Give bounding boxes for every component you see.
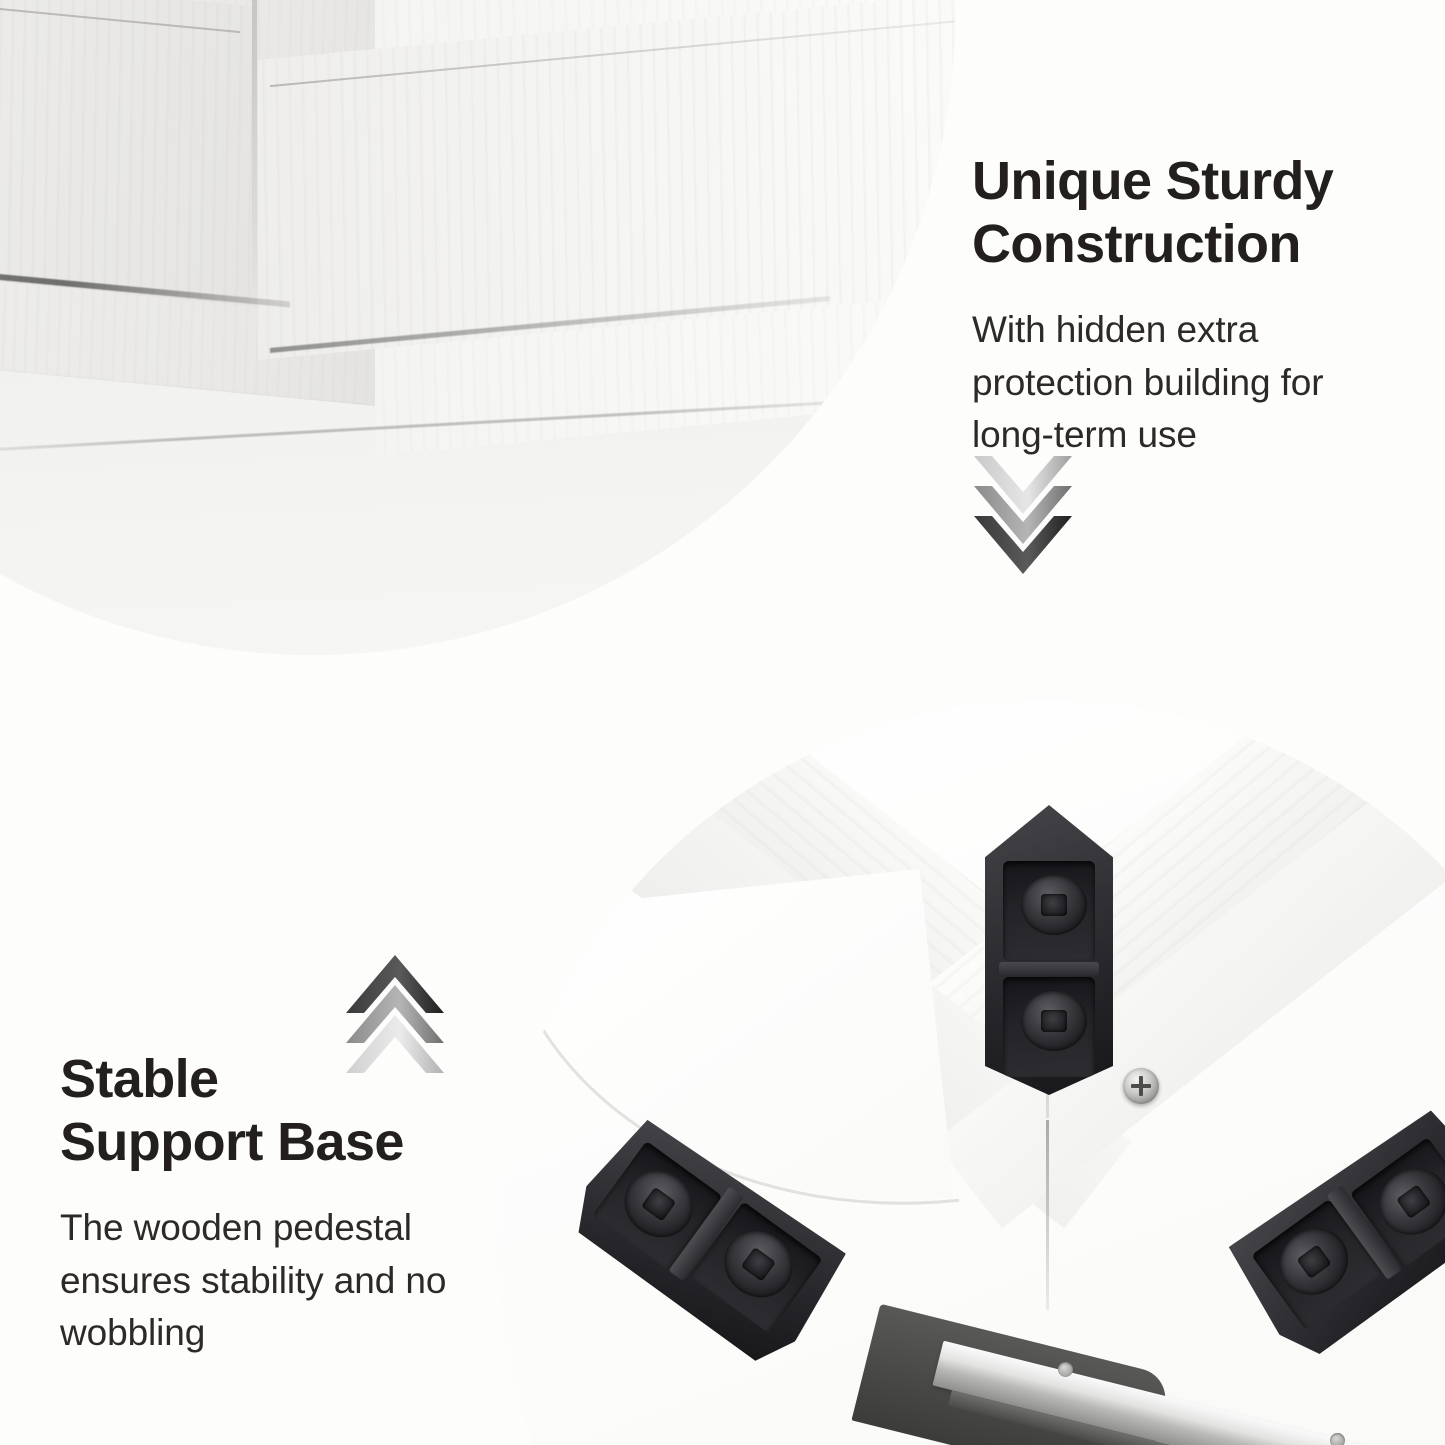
bracket-divider: [999, 962, 1099, 976]
cabinet-scene: [0, 0, 955, 655]
bracket-screw-boss: [1021, 991, 1087, 1051]
feature-block-unique-sturdy-construction: Unique Sturdy Construction With hidden e…: [972, 150, 1412, 462]
infographic-canvas: Unique Sturdy Construction With hidden e…: [0, 0, 1445, 1445]
rail-screw-hole: [1330, 1433, 1345, 1445]
photo-corner-brackets-underside: [498, 700, 1445, 1445]
plinth-left-face: [0, 0, 260, 307]
bracket-screw-boss: [1021, 875, 1087, 935]
rail-screw-hole: [1058, 1362, 1073, 1377]
chevron-down-icon: [968, 452, 1078, 582]
feature-heading: Unique Sturdy Construction: [972, 150, 1412, 276]
mitre-joint-line: [1046, 1120, 1049, 1310]
plinth-corner-edge: [252, 0, 257, 288]
photo-cabinet-base-corner: [0, 0, 955, 655]
feature-block-stable-support-base: Stable Support Base The wooden pedestal …: [60, 1048, 500, 1360]
feature-description: The wooden pedestal ensures stability an…: [60, 1202, 500, 1360]
frame-underside-scene: [498, 700, 1445, 1445]
corner-bracket-top: [985, 805, 1113, 1095]
chevron-up-icon: [340, 952, 450, 1082]
feature-description: With hidden extra protection building fo…: [972, 304, 1412, 462]
screw-head: [1123, 1068, 1159, 1104]
